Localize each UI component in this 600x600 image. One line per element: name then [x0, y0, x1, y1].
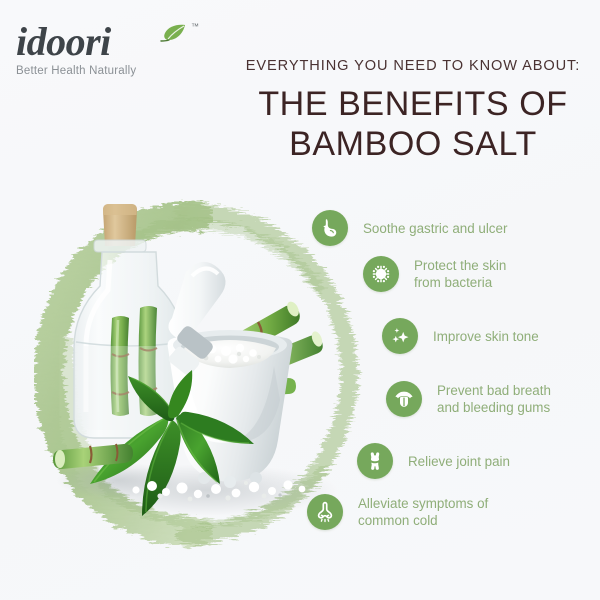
stomach-icon — [312, 210, 348, 246]
benefit-item-protect-skin: Protect the skin from bacteria — [363, 256, 506, 292]
page-title-line-1: THE BENEFITS OF — [238, 84, 588, 124]
leaf-icon — [160, 24, 186, 42]
benefit-item-soothe-gastric: Soothe gastric and ulcer — [312, 210, 507, 246]
benefit-label: Relieve joint pain — [408, 453, 510, 470]
benefit-label: Protect the skin from bacteria — [414, 257, 506, 291]
benefit-item-improve-skin-tone: Improve skin tone — [382, 318, 539, 354]
bacteria-icon — [363, 256, 399, 292]
brand-logo[interactable]: idoori ™ Better Health Naturally — [16, 22, 166, 77]
benefit-label: Alleviate symptoms of common cold — [358, 495, 488, 529]
benefit-label: Prevent bad breath and bleeding gums — [437, 382, 551, 416]
benefit-item-prevent-bad-breath: Prevent bad breath and bleeding gums — [386, 381, 551, 417]
logo-wordmark: idoori — [16, 22, 111, 62]
eyebrow-text: EVERYTHING YOU NEED TO KNOW ABOUT: — [238, 58, 588, 74]
knee-joint-icon — [357, 443, 393, 479]
logo-tagline: Better Health Naturally — [16, 65, 166, 77]
page-title-line-2: BAMBOO SALT — [238, 124, 588, 164]
benefit-item-relieve-joint-pain: Relieve joint pain — [357, 443, 510, 479]
benefit-label: Improve skin tone — [433, 328, 539, 345]
benefit-label: Soothe gastric and ulcer — [363, 220, 507, 237]
benefit-item-alleviate-cold: Alleviate symptoms of common cold — [307, 494, 488, 530]
sparkles-icon — [382, 318, 418, 354]
nose-icon — [307, 494, 343, 530]
trademark-symbol: ™ — [191, 22, 199, 31]
infographic-poster: idoori ™ Better Health Naturally EVERYTH… — [0, 0, 600, 600]
headline-block: EVERYTHING YOU NEED TO KNOW ABOUT: THE B… — [238, 58, 588, 164]
mouth-tongue-icon — [386, 381, 422, 417]
